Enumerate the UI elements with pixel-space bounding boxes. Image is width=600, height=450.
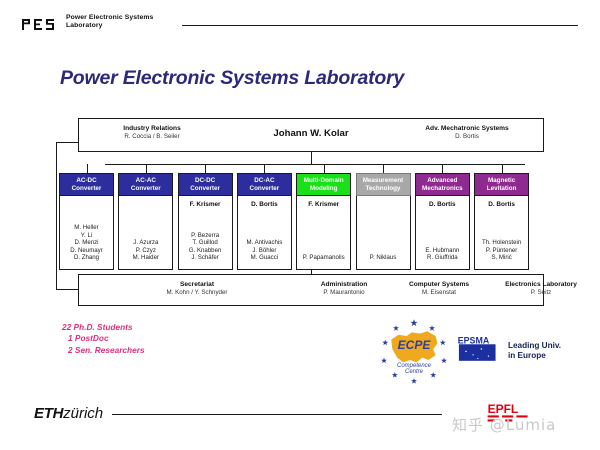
eth-bold: ETH <box>34 405 63 422</box>
department-connector <box>264 164 265 173</box>
staff-member: E. Hubmann <box>416 247 469 255</box>
department-staff: E. HubmannR. Giuffrida <box>416 247 469 262</box>
epsma-logo: EPSMA <box>455 336 503 362</box>
eth-light: zürich <box>63 405 103 422</box>
department-header[interactable]: MagneticLevitation <box>474 173 529 196</box>
staff-member: P. Niklaus <box>357 254 410 262</box>
support-service-title: Secretariat <box>137 281 257 289</box>
department-bus-line <box>105 164 525 165</box>
side-connector-vertical <box>56 142 57 290</box>
department-header[interactable]: DC-ACConverter <box>237 173 292 196</box>
department-connector <box>383 164 384 173</box>
staff-member: P. Bezerra <box>179 232 232 240</box>
eth-zurich-logo: ETHzürich <box>34 405 103 422</box>
department-staff: P. Niklaus <box>357 254 410 262</box>
department-connector <box>205 164 206 173</box>
department-connector <box>442 164 443 173</box>
ecpe-line1: Competence <box>397 363 432 369</box>
staff-member: D. Zhang <box>60 254 113 262</box>
leading-univ-label: Leading Univ. in Europe <box>508 341 561 361</box>
staff-member: M. Guacci <box>238 254 291 262</box>
department-header[interactable]: AdvancedMechatronics <box>415 173 470 196</box>
department-header[interactable]: AC-DCConverter <box>59 173 114 196</box>
lab-name-line1: Power Electronic Systems <box>66 14 153 22</box>
department-staff: Th. HolensteinP. PüntenerS. Mirić <box>475 239 528 262</box>
staff-member: M. Haider <box>119 254 172 262</box>
staff-member: M. Heller <box>60 224 113 232</box>
side-connector-top <box>56 142 79 143</box>
site-watermark: 知乎 @Lumia <box>452 414 556 435</box>
department-column[interactable]: AdvancedMechatronicsD. BortisE. HubmannR… <box>415 173 470 270</box>
page-title: Power Electronic Systems Laboratory <box>60 67 404 90</box>
staff-member: T. Guillod <box>179 239 232 247</box>
staff-member: Th. Holenstein <box>475 239 528 247</box>
staff-member: R. Giuffrida <box>416 254 469 262</box>
department-column[interactable]: DC-DCConverterF. KrismerP. BezerraT. Gui… <box>178 173 233 270</box>
department-body: M. HellerY. LiD. MenziD. NeumayrD. Zhang <box>59 196 114 270</box>
department-body: F. KrismerP. BezerraT. GuillodG. Knabben… <box>178 196 233 270</box>
department-lead: D. Bortis <box>475 201 528 208</box>
support-service-people: P. Seitz <box>481 289 600 297</box>
department-body: D. BortisM. AntivachisJ. BöhlerM. Guacci <box>237 196 292 270</box>
department-header[interactable]: AC-ACConverter <box>118 173 173 196</box>
department-header[interactable]: Multi-DomainModeling <box>296 173 351 196</box>
department-staff: P. Papamanolis <box>297 254 350 262</box>
headcount-stats: 22 Ph.D. Students 1 PostDoc 2 Sen. Resea… <box>62 322 145 356</box>
department-lead: F. Krismer <box>297 201 350 208</box>
department-column[interactable]: AC-ACConverterJ. AzurzaP. CzyzM. Haider <box>118 173 173 270</box>
stat-phd-students: 22 Ph.D. Students <box>62 322 145 333</box>
staff-member: S. Mirić <box>475 254 528 262</box>
pes-logo <box>22 17 60 32</box>
ecpe-wordmark: ECPE <box>398 338 432 352</box>
leading-univ-line2: in Europe <box>508 351 561 361</box>
staff-member: P. Papamanolis <box>297 254 350 262</box>
epsma-wordmark: EPSMA <box>458 336 490 346</box>
staff-member: G. Knabben <box>179 247 232 255</box>
department-body: D. BortisTh. HolensteinP. PüntenerS. Mir… <box>474 196 529 270</box>
adv-mechatronic-people: D. Bortis <box>397 133 537 141</box>
support-service-people: M. Kohn / Y. Schnyder <box>137 289 257 297</box>
department-column[interactable]: Multi-DomainModelingF. KrismerP. Papaman… <box>296 173 351 270</box>
staff-member: P. Püntener <box>475 247 528 255</box>
support-service-cell[interactable]: Electronics LaboratoryP. Seitz <box>481 281 600 297</box>
department-lead: D. Bortis <box>238 201 291 208</box>
department-column[interactable]: AC-DCConverterM. HellerY. LiD. MenziD. N… <box>59 173 114 270</box>
department-staff: M. HellerY. LiD. MenziD. NeumayrD. Zhang <box>60 224 113 262</box>
staff-member: J. Azurza <box>119 239 172 247</box>
department-lead: F. Krismer <box>179 201 232 208</box>
stat-postdoc: 1 PostDoc <box>62 333 145 344</box>
staff-member: D. Neumayr <box>60 247 113 255</box>
department-body: D. BortisE. HubmannR. Giuffrida <box>415 196 470 270</box>
footer-rule <box>112 414 442 415</box>
department-column[interactable]: MeasurementTechnologyP. Niklaus <box>356 173 411 270</box>
leadership-box: Industry Relations R. Coccia / B. Seiler… <box>78 118 544 152</box>
staff-member: D. Menzi <box>60 239 113 247</box>
department-connector <box>146 164 147 173</box>
department-connector <box>502 164 503 173</box>
staff-member: J. Böhler <box>238 247 291 255</box>
department-header[interactable]: MeasurementTechnology <box>356 173 411 196</box>
department-connector <box>324 164 325 173</box>
department-body: F. KrismerP. Papamanolis <box>296 196 351 270</box>
adv-mechatronic-systems-cell: Adv. Mechatronic Systems D. Bortis <box>397 125 537 141</box>
stat-senior-researchers: 2 Sen. Researchers <box>62 345 145 356</box>
support-service-title: Electronics Laboratory <box>481 281 600 289</box>
department-lead: D. Bortis <box>416 201 469 208</box>
department-header[interactable]: DC-DCConverter <box>178 173 233 196</box>
ecpe-line2: Centre <box>405 369 424 375</box>
lab-name: Power Electronic Systems Laboratory <box>66 14 153 30</box>
staff-member: Y. Li <box>60 232 113 240</box>
department-connector <box>87 164 88 173</box>
department-body: J. AzurzaP. CzyzM. Haider <box>118 196 173 270</box>
staff-member: J. Schäfer <box>179 254 232 262</box>
ecpe-competence-centre-logo: ECPE Competence Centre <box>378 318 450 384</box>
adv-mechatronic-title: Adv. Mechatronic Systems <box>397 125 537 133</box>
department-staff: M. AntivachisJ. BöhlerM. Guacci <box>238 239 291 262</box>
department-body: P. Niklaus <box>356 196 411 270</box>
staff-member: P. Czyz <box>119 247 172 255</box>
lab-name-line2: Laboratory <box>66 22 153 30</box>
header-rule <box>182 25 578 26</box>
support-services-box: SecretariatM. Kohn / Y. SchnyderAdminist… <box>78 274 544 306</box>
side-connector-bottom <box>56 289 79 290</box>
department-staff: P. BezerraT. GuillodG. KnabbenJ. Schäfer <box>179 232 232 262</box>
leading-univ-line1: Leading Univ. <box>508 341 561 351</box>
staff-member: M. Antivachis <box>238 239 291 247</box>
org-chart: Industry Relations R. Coccia / B. Seiler… <box>56 118 544 308</box>
slide-header: Power Electronic Systems Laboratory <box>22 14 578 36</box>
support-service-cell[interactable]: SecretariatM. Kohn / Y. Schnyder <box>137 281 257 297</box>
director-drop-line <box>311 152 312 164</box>
department-column[interactable]: MagneticLevitationD. BortisTh. Holenstei… <box>474 173 529 270</box>
department-column[interactable]: DC-ACConverterD. BortisM. AntivachisJ. B… <box>237 173 292 270</box>
department-staff: J. AzurzaP. CzyzM. Haider <box>119 239 172 262</box>
slide-canvas: Power Electronic Systems Laboratory Powe… <box>0 0 600 450</box>
